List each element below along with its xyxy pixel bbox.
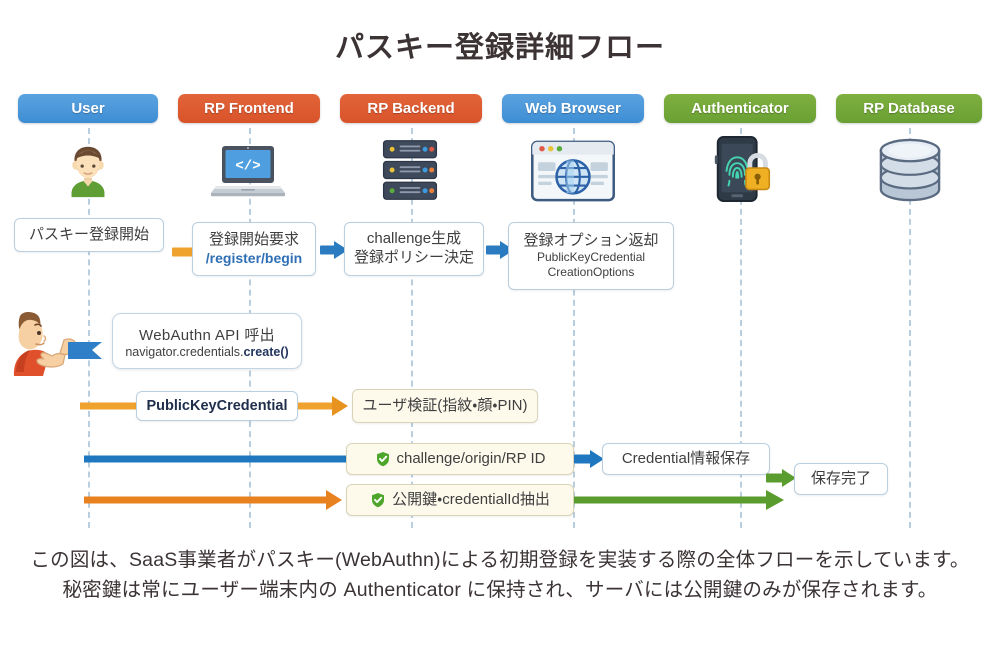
step-text: 登録開始要求 [209,231,299,250]
user-avatar-icon [40,135,136,205]
phone-fingerprint-lock-icon [696,134,792,204]
lane-label: RP Backend [367,100,454,117]
step-text: ユーザ検証(指紋・顔・PIN) [363,397,528,416]
lane-header-rp-backend[interactable]: RP Backend [340,94,482,123]
user-pointing-icon [8,306,104,378]
label-box-publickeycredential[interactable]: PublicKeyCredential [136,391,298,421]
lane-header-rp-database[interactable]: RP Database [836,94,982,123]
lane-header-rp-frontend[interactable]: RP Frontend [178,94,320,123]
footer-line-1: この図は、SaaS事業者がパスキー(WebAuthn)による初期登録を実装する際… [0,545,1000,575]
step-box-user-verification[interactable]: ユーザ検証(指紋・顔・PIN) [352,389,538,423]
lane-label: User [71,100,104,117]
lane-label: RP Frontend [204,100,294,117]
shield-check-icon [375,451,391,467]
server-rack-icon [362,135,458,205]
lane-header-authenticator[interactable]: Authenticator [664,94,816,123]
step-text: パスキー登録開始 [29,226,149,245]
callout-webauthn-api[interactable]: WebAuthn API 呼出 navigator.credentials.cr… [112,313,302,369]
laptop-code-icon: </> [200,136,296,206]
lane-label: Web Browser [525,100,621,117]
step-text: Credential情報保存 [622,450,750,469]
step-text: 公開鍵・credentialId抽出 [392,491,550,510]
step-box-extract-public-key[interactable]: 公開鍵・credentialId抽出 [346,484,574,516]
step-box-challenge-origin-rpid[interactable]: challenge/origin/RP ID [346,443,574,475]
lane-label: RP Database [863,100,954,117]
page-title: パスキー登録詳細フロー [0,24,1000,66]
step-text: 登録オプション返却 [523,232,658,251]
step-endpoint: /register/begin [206,250,302,268]
step-box-credential-info-store[interactable]: Credential情報保存 [602,443,770,475]
step-box-challenge-generation[interactable]: challenge生成 登録ポリシー決定 [344,222,484,276]
step-box-save-complete[interactable]: 保存完了 [794,463,888,495]
lane-label: Authenticator [691,100,789,117]
step-text: challenge/origin/RP ID [397,450,546,469]
label-text: PublicKeyCredential [146,397,287,415]
callout-code: navigator.credentials.create() [125,345,288,359]
database-cylinder-icon [862,135,958,205]
browser-globe-icon [525,136,621,206]
step-detail-2: CreationOptions [548,265,635,280]
step-text: 保存完了 [811,470,871,489]
step-box-registration-options[interactable]: 登録オプション返却 PublicKeyCredential CreationOp… [508,222,674,290]
shield-check-icon [370,492,386,508]
diagram-canvas: パスキー登録詳細フロー User RP Frontend RP Backend … [0,0,1000,650]
footer-line-2: 秘密鍵は常にユーザー端末内の Authenticator に保持され、サーバには… [0,575,1000,605]
svg-text:</>: </> [235,159,260,175]
step-detail-1: PublicKeyCredential [537,250,645,265]
step-text: challenge生成 [367,230,461,249]
step-box-register-begin[interactable]: 登録開始要求 /register/begin [192,222,316,276]
step-box-passkey-registration-start[interactable]: パスキー登録開始 [14,218,164,252]
lane-header-user[interactable]: User [18,94,158,123]
callout-title: WebAuthn API 呼出 [139,324,275,345]
step-text-2: 登録ポリシー決定 [354,249,474,268]
lane-header-web-browser[interactable]: Web Browser [502,94,644,123]
